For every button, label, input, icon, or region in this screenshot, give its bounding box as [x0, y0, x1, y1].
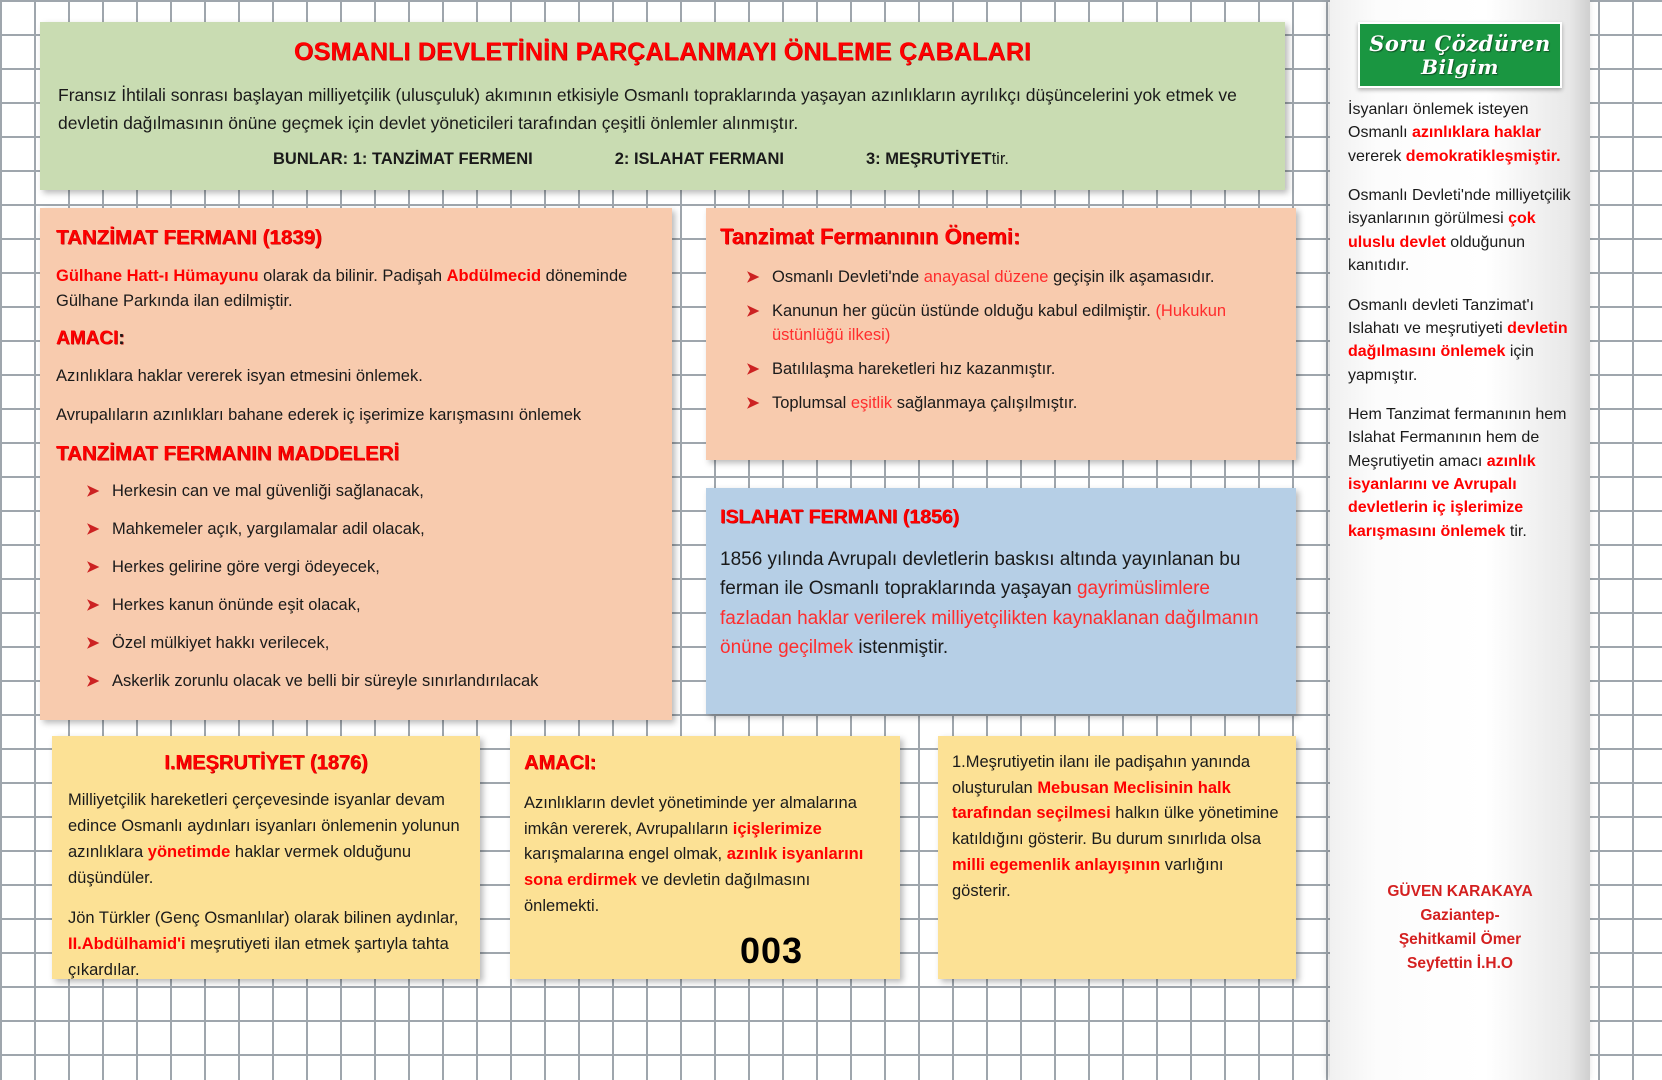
list-item-label: Mahkemeler açık, yargılamalar adil olaca…	[112, 520, 425, 538]
sidebar-note-1: İsyanları önlemek isteyen Osmanlı azınlı…	[1348, 98, 1576, 168]
header-description: Fransız İhtilali sonrası başlayan milliy…	[58, 81, 1267, 138]
tanzimat-intro-highlight-2: Abdülmecid	[447, 267, 541, 285]
tanzimat-amaci-1: Azınlıklara haklar vererek isyan etmesin…	[56, 364, 652, 389]
onemi-list: ➤Osmanlı Devleti'nde anayasal düzene geç…	[720, 266, 1280, 416]
list-item-text-b: geçişin ilk aşamasıdır.	[1048, 268, 1214, 286]
list-item-label: Herkes kanun önünde eşit olacak,	[112, 596, 361, 614]
list-item-text-a: Kanunun her gücün üstünde olduğu kabul e…	[772, 302, 1155, 320]
header-decree-list: BUNLAR: 1: TANZİMAT FERMENI 2: ISLAHAT F…	[58, 150, 1267, 169]
tanzimat-maddeler-title: TANZİMAT FERMANIN MADDELERİ	[56, 442, 652, 466]
arrow-bullet-icon: ➤	[86, 632, 99, 655]
mesrutiyet-p2-a: Jön Türkler (Genç Osmanlılar) olarak bil…	[68, 909, 458, 927]
tanzimat-amaci-heading: AMACI:	[56, 328, 652, 350]
list-item: ➤Mahkemeler açık, yargılamalar adil olac…	[112, 518, 652, 542]
arrow-bullet-icon: ➤	[746, 266, 759, 289]
note2-a: Osmanlı Devleti'nde milliyetçilik isyanl…	[1348, 187, 1571, 227]
signature-line-2: Gaziantep-	[1330, 904, 1590, 928]
signature-line-1: GÜVEN KARAKAYA	[1330, 880, 1590, 904]
tanzimat-amaci-label: AMACI	[56, 328, 118, 349]
note4-b: tir.	[1505, 523, 1526, 540]
islahat-fermani-panel: ISLAHAT FERMANI (1856) 1856 yılında Avru…	[706, 488, 1296, 714]
tanzimat-title: TANZİMAT FERMANI (1839)	[56, 226, 652, 250]
decree-item-2: 2: ISLAHAT FERMANI	[615, 150, 784, 169]
arrow-bullet-icon: ➤	[86, 670, 99, 693]
arrow-bullet-icon: ➤	[746, 358, 759, 381]
brand-logo: Soru Çözdüren Bilgim	[1358, 22, 1562, 88]
mesrutiyet-p2-highlight: II.Abdülhamid'i	[68, 935, 186, 953]
mesrutiyet-paragraph-2: Jön Türkler (Genç Osmanlılar) olarak bil…	[68, 905, 464, 983]
islahat-title: ISLAHAT FERMANI (1856)	[720, 506, 1280, 529]
mesrutiyet-amaci-panel: AMACI: Azınlıkların devlet yönetiminde y…	[510, 736, 900, 979]
tanzimat-amaci-2: Avrupalıların azınlıkları bahane ederek …	[56, 403, 652, 428]
list-item: ➤Herkes gelirine göre vergi ödeyecek,	[112, 556, 652, 580]
amaci-text-b: karışmalarına engel olmak,	[524, 845, 727, 863]
onemi-title: Tanzimat Fermanının Önemi:	[720, 224, 1280, 250]
list-item-text-a: Osmanlı Devleti'nde	[772, 268, 924, 286]
islahat-body: 1856 yılında Avrupalı devletlerin baskıs…	[720, 545, 1280, 663]
infographic-page: OSMANLI DEVLETİNİN PARÇALANMAYI ÖNLEME Ç…	[0, 0, 1662, 1080]
author-signature: GÜVEN KARAKAYA Gaziantep- Şehitkamil Öme…	[1330, 880, 1590, 976]
mesrutiyet-p1-highlight: yönetimde	[148, 843, 231, 861]
logo-line-2: Bilgim	[1421, 57, 1499, 77]
amaci-highlight-1: içişlerimize	[733, 820, 822, 838]
list-item-label: Herkesin can ve mal güvenliği sağlanacak…	[112, 482, 424, 500]
note1-red1: azınlıklara haklar	[1412, 124, 1541, 141]
sidebar-note-2: Osmanlı Devleti'nde milliyetçilik isyanl…	[1348, 184, 1576, 277]
header-panel: OSMANLI DEVLETİNİN PARÇALANMAYI ÖNLEME Ç…	[40, 22, 1285, 190]
tanzimat-maddeler-list: ➤Herkesin can ve mal güvenliği sağlanaca…	[56, 480, 652, 694]
tanzimat-intro-text-1: olarak da bilinir. Padişah	[259, 267, 447, 285]
list-item: ➤Özel mülkiyet hakkı verilecek,	[112, 632, 652, 656]
arrow-bullet-icon: ➤	[746, 392, 759, 415]
mesrutiyet-title: I.MEŞRUTİYET (1876)	[68, 752, 464, 775]
list-item-text-a: Batılılaşma hareketleri hız kazanmıştır.	[772, 360, 1055, 378]
list-item: ➤Batılılaşma hareketleri hız kazanmıştır…	[772, 358, 1280, 382]
decree-item-3: 3: MEŞRUTİYETtir.	[866, 150, 1009, 169]
amaci-panel-title: AMACI:	[524, 752, 886, 775]
list-item-text-b: sağlanmaya çalışılmıştır.	[892, 394, 1077, 412]
list-item-label: Herkes gelirine göre vergi ödeyecek,	[112, 558, 380, 576]
page-number: 003	[740, 930, 803, 972]
tanzimat-fermani-panel: TANZİMAT FERMANI (1839) Gülhane Hatt-ı H…	[40, 208, 672, 720]
decree-item-3-label: 3: MEŞRUTİYET	[866, 150, 992, 168]
list-item: ➤Herkesin can ve mal güvenliği sağlanaca…	[112, 480, 652, 504]
list-item: ➤Toplumsal eşitlik sağlanmaya çalışılmış…	[772, 392, 1280, 416]
note1-b: vererek	[1348, 148, 1406, 165]
page-title: OSMANLI DEVLETİNİN PARÇALANMAYI ÖNLEME Ç…	[58, 38, 1267, 67]
islahat-text-b: istenmiştir.	[853, 637, 948, 658]
mesrutiyet-panel: I.MEŞRUTİYET (1876) Milliyetçilik hareke…	[52, 736, 480, 979]
arrow-bullet-icon: ➤	[746, 300, 759, 323]
signature-line-4: Seyfettin İ.H.O	[1330, 952, 1590, 976]
tanzimat-amaci-colon: :	[118, 328, 124, 349]
note1-red2: demokratikleşmiştir.	[1406, 148, 1561, 165]
list-item: ➤Askerlik zorunlu olacak ve belli bir sü…	[112, 670, 652, 694]
tanzimat-intro: Gülhane Hatt-ı Hümayunu olarak da bilini…	[56, 264, 652, 314]
arrow-bullet-icon: ➤	[86, 594, 99, 617]
list-item-text-a: Toplumsal	[772, 394, 851, 412]
signature-line-3: Şehitkamil Ömer	[1330, 928, 1590, 952]
logo-line-1: Soru Çözdüren	[1369, 33, 1551, 54]
list-item-label: Askerlik zorunlu olacak ve belli bir sür…	[112, 672, 538, 690]
mebusan-meclisi-panel: 1.Meşrutiyetin ilanı ile padişahın yanın…	[938, 736, 1296, 979]
arrow-bullet-icon: ➤	[86, 518, 99, 541]
tanzimat-intro-highlight-1: Gülhane Hatt-ı Hümayunu	[56, 267, 259, 285]
amaci-panel-body: Azınlıkların devlet yönetiminde yer alma…	[524, 791, 886, 920]
list-item-label: Özel mülkiyet hakkı verilecek,	[112, 634, 329, 652]
meclis-highlight-2: milli egemenlik anlayışının	[952, 856, 1160, 874]
sidebar-note-4: Hem Tanzimat fermanının hem Islahat Ferm…	[1348, 403, 1576, 543]
meclis-body: 1.Meşrutiyetin ilanı ile padişahın yanın…	[952, 750, 1282, 904]
mesrutiyet-paragraph-1: Milliyetçilik hareketleri çerçevesinde i…	[68, 787, 464, 891]
sidebar-note-3: Osmanlı devleti Tanzimat'ı Islahatı ve m…	[1348, 294, 1576, 387]
list-item: ➤Kanunun her gücün üstünde olduğu kabul …	[772, 300, 1280, 348]
decree-item-1: BUNLAR: 1: TANZİMAT FERMENI	[273, 150, 533, 169]
tanzimat-onemi-panel: Tanzimat Fermanının Önemi: ➤Osmanlı Devl…	[706, 208, 1296, 460]
arrow-bullet-icon: ➤	[86, 556, 99, 579]
list-item-highlight: anayasal düzene	[924, 268, 1049, 286]
list-item: ➤Osmanlı Devleti'nde anayasal düzene geç…	[772, 266, 1280, 290]
decree-item-3-suffix: tir.	[992, 150, 1009, 168]
arrow-bullet-icon: ➤	[86, 480, 99, 503]
list-item: ➤Herkes kanun önünde eşit olacak,	[112, 594, 652, 618]
list-item-highlight: eşitlik	[851, 394, 892, 412]
sidebar: Soru Çözdüren Bilgim İsyanları önlemek i…	[1330, 0, 1590, 1080]
